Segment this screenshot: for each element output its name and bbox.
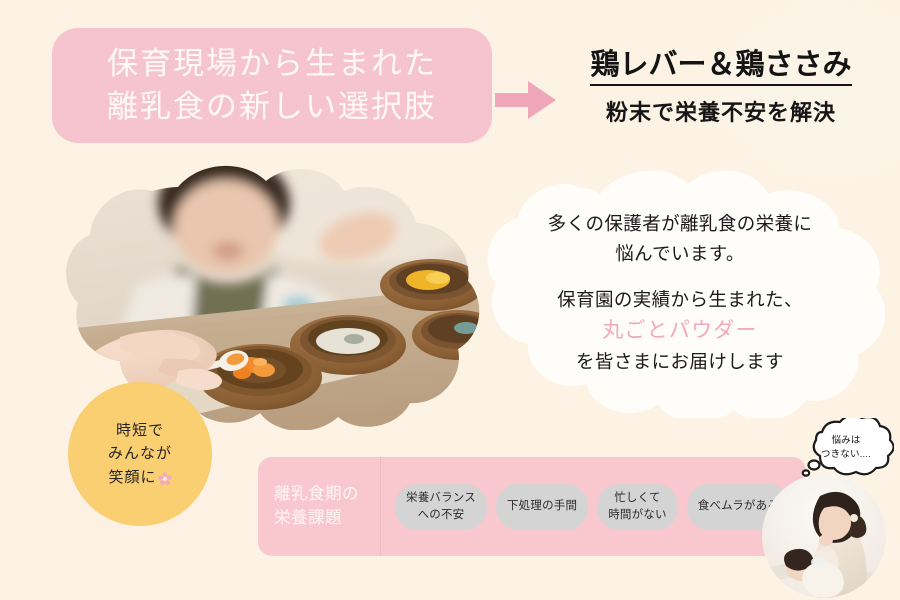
issue-chip-list: 栄養バランス への不安 下処理の手間 忙しくて 時間がない 食べムラがある — [381, 484, 806, 530]
arrow-right-icon — [495, 78, 557, 122]
yellow-badge-line-3: 笑顔に — [108, 466, 156, 489]
issue-chip[interactable]: 栄養バランス への不安 — [395, 484, 487, 530]
headline-sub-text: 粉末で栄養不安を解決 — [556, 95, 886, 127]
message-paragraph-2: 保育園の実績から生まれた、 丸ごとパウダー を皆さまにお届けします — [557, 285, 803, 376]
yellow-badge-line-1: 時短で — [116, 419, 164, 442]
yellow-badge-line-2: みんなが — [108, 442, 172, 465]
message-p1-line-1: 多くの保護者が離乳食の栄養に — [548, 209, 813, 239]
flower-icon — [158, 470, 172, 484]
thought-line-2: つきない.... — [821, 448, 871, 462]
mother-baby-photo — [762, 474, 886, 598]
message-paragraph-1: 多くの保護者が離乳食の栄養に 悩んでいます。 — [548, 209, 813, 269]
issue-chip[interactable]: 忙しくて 時間がない — [597, 484, 678, 530]
poster-canvas: 保育現場から生まれた 離乳食の新しい選択肢 鶏レバー＆鶏ささみ 粉末で栄養不安を… — [0, 0, 900, 600]
time-saving-badge: 時短で みんなが 笑顔に — [68, 382, 212, 526]
nutrition-issues-band: 離乳食期の 栄養課題 栄養バランス への不安 下処理の手間 忙しくて 時間がない… — [258, 457, 806, 556]
tagline-badge: 保育現場から生まれた 離乳食の新しい選択肢 — [52, 28, 492, 143]
tagline-line-2: 離乳食の新しい選択肢 — [107, 86, 437, 129]
message-p2-line-1: 保育園の実績から生まれた、 — [557, 285, 803, 315]
message-cloud: 多くの保護者が離乳食の栄養に 悩んでいます。 保育園の実績から生まれた、 丸ごと… — [470, 168, 890, 418]
product-headline: 鶏レバー＆鶏ささみ 粉末で栄養不安を解決 — [556, 48, 886, 127]
thought-line-1: 悩みは — [831, 434, 860, 448]
issue-chip[interactable]: 下処理の手間 — [496, 484, 588, 530]
band-label: 離乳食期の 栄養課題 — [258, 483, 380, 531]
yellow-badge-line-3-wrap: 笑顔に — [108, 466, 171, 489]
product-name-highlight: 丸ごとパウダー — [557, 315, 803, 347]
tagline-line-1: 保育現場から生まれた — [107, 43, 437, 86]
message-p1-line-2: 悩んでいます。 — [548, 239, 813, 269]
thought-bubble: 悩みは つきない.... — [798, 418, 894, 480]
hero-photo: <. id="x"/> — [28, 165, 483, 430]
message-p2-line-3: を皆さまにお届けします — [557, 347, 803, 377]
headline-main-text: 鶏レバー＆鶏ささみ — [590, 48, 851, 86]
band-label-line-1: 離乳食期の — [274, 483, 380, 507]
band-label-line-2: 栄養課題 — [274, 507, 380, 531]
